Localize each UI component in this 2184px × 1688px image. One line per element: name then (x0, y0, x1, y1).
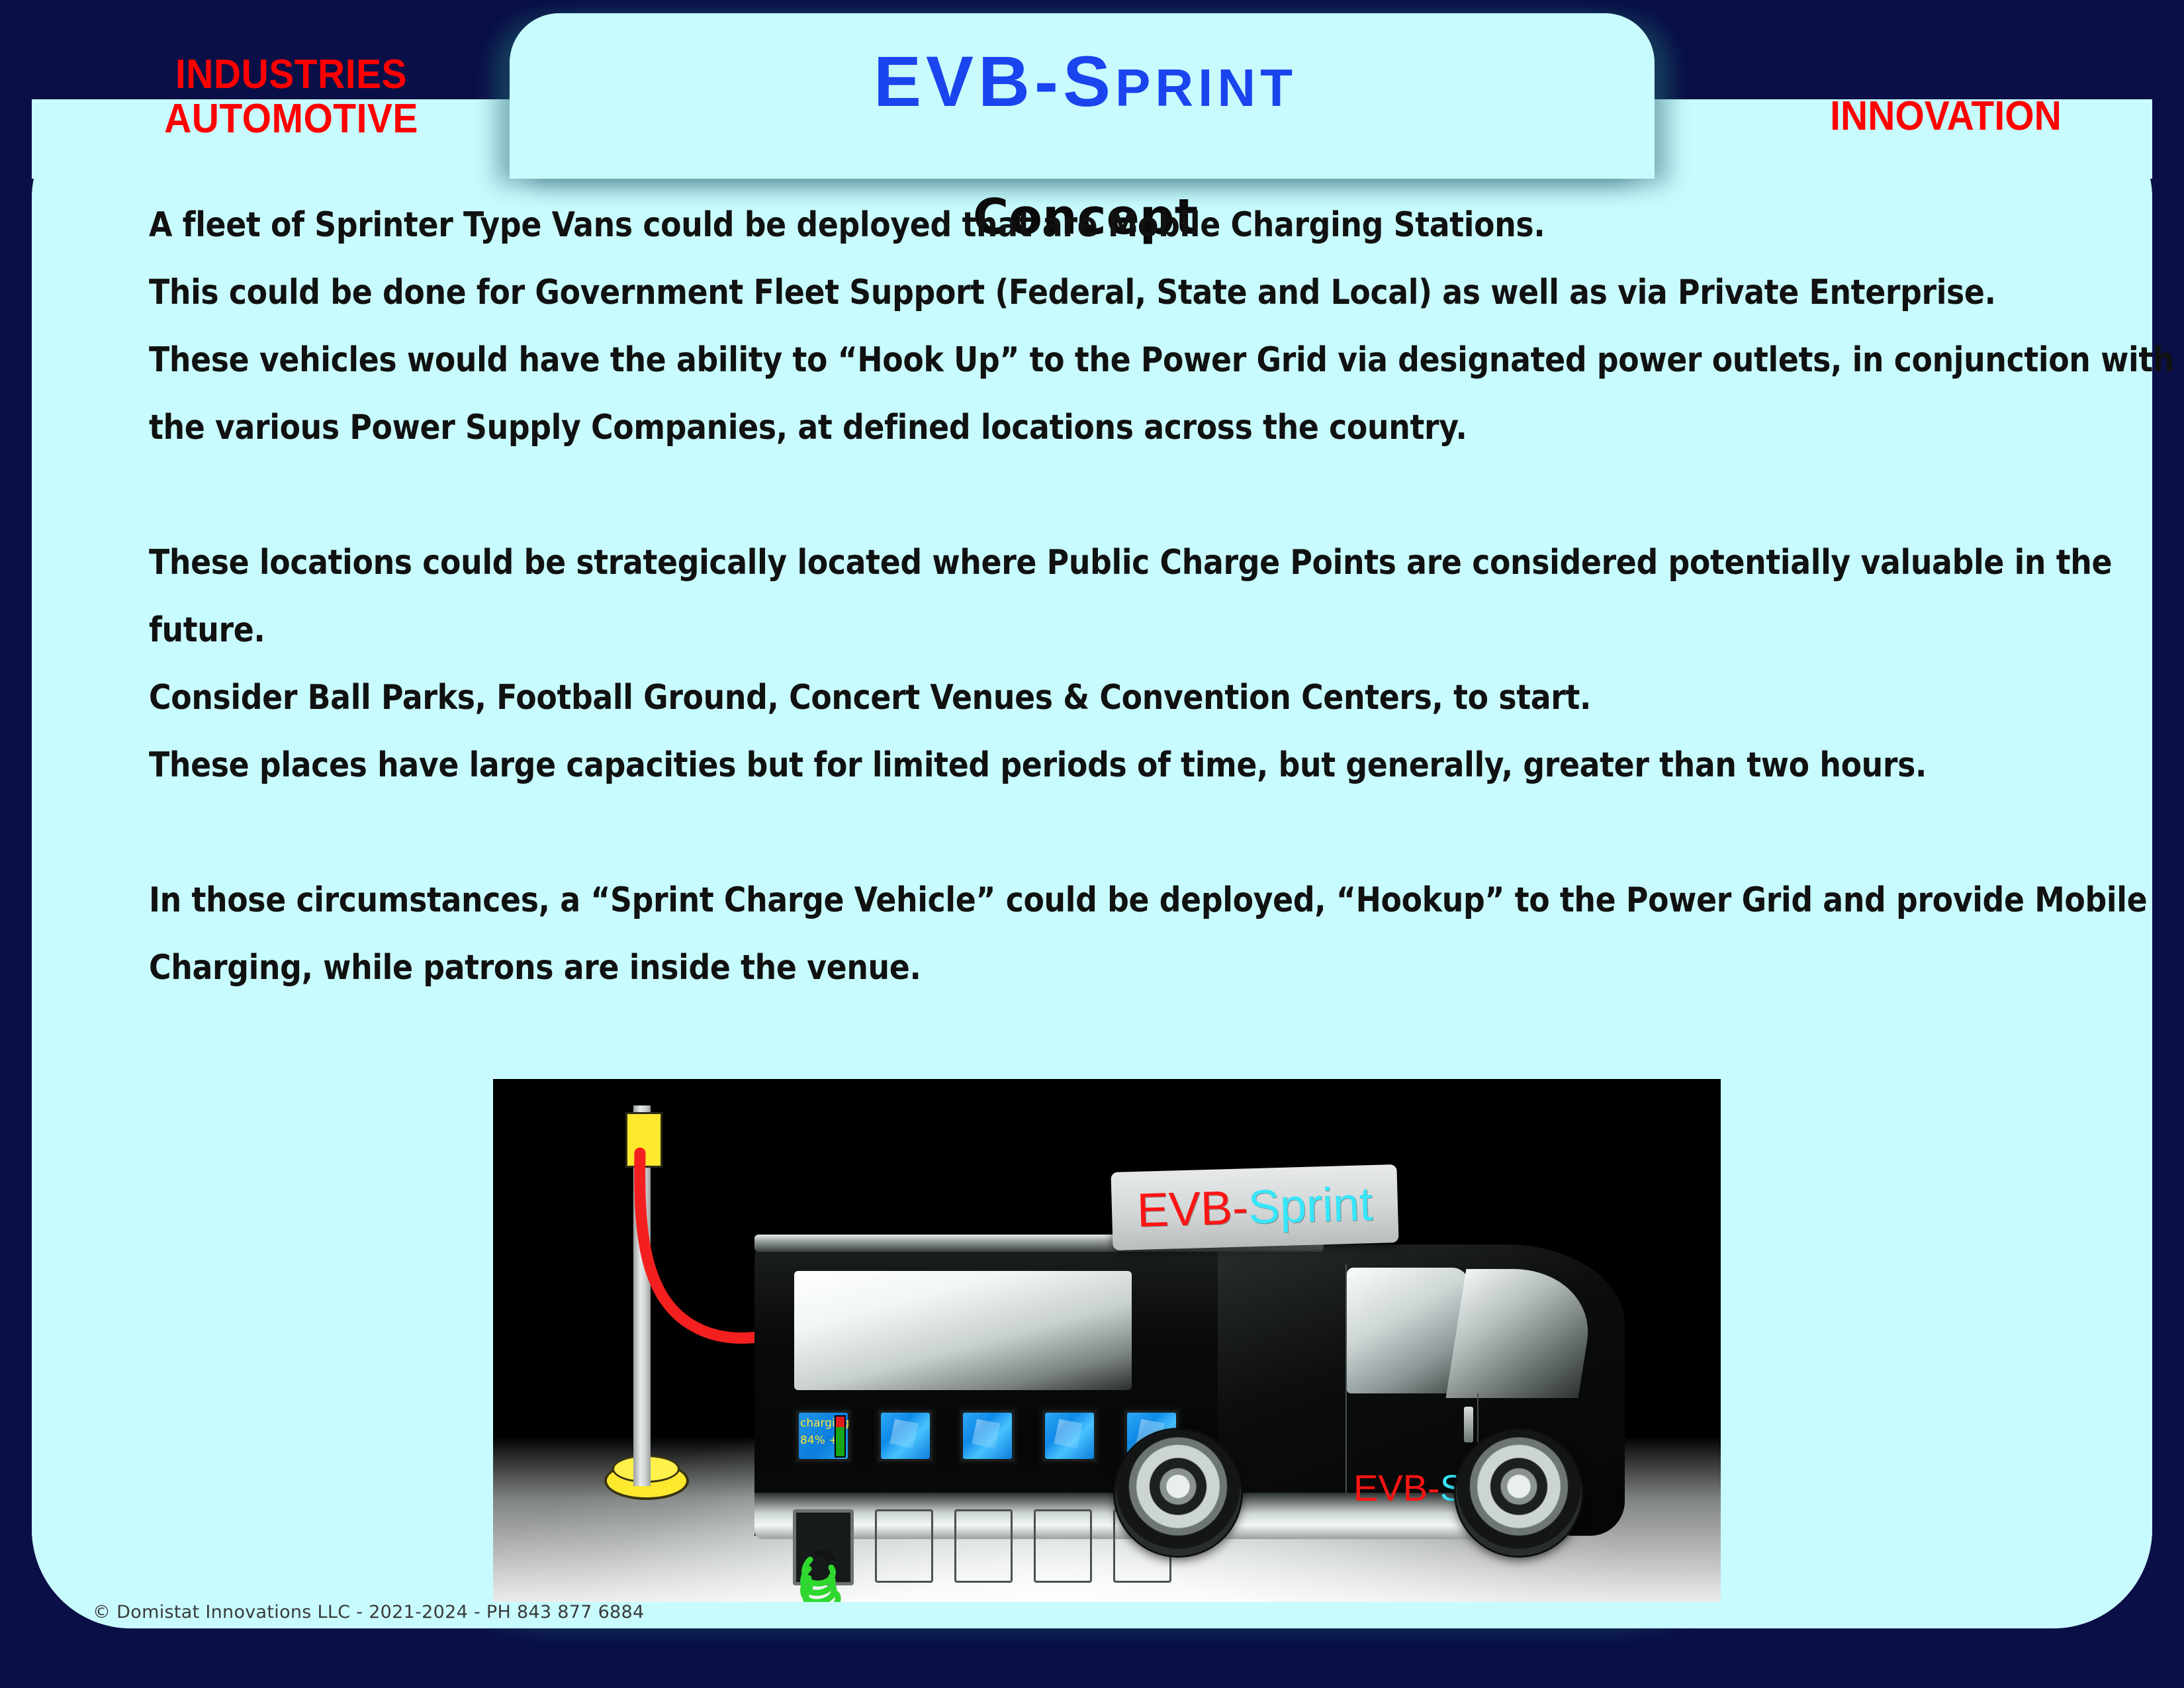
roof-sign: EVB-Sprint (1111, 1164, 1398, 1250)
coiled-charge-lead-icon (796, 1542, 875, 1602)
van-door-seam (1345, 1264, 1347, 1529)
body-line-5: These locations could be strategically l… (149, 543, 1855, 583)
body-line-6: future. (149, 610, 1855, 650)
body-line-2: This could be done for Government Fleet … (149, 273, 1855, 312)
copyright-footer: © Domistat Innovations LLC - 2021-2024 -… (93, 1602, 645, 1622)
charge-bay-hatch-4[interactable] (1034, 1509, 1092, 1583)
battery-level-icon (835, 1415, 846, 1458)
body-line-1: A fleet of Sprinter Type Vans could be d… (149, 205, 1855, 245)
van-rear-wheel (1115, 1430, 1241, 1556)
slide-root: INDUSTRIES AUTOMOTIVE EVB-SPRINT INNOVAT… (0, 0, 2184, 1688)
charge-screen-4-glow (1045, 1413, 1094, 1459)
van-front-wheel (1456, 1430, 1582, 1556)
van-graphic: charging 84% + (754, 1208, 1625, 1579)
van-side-panel (794, 1271, 1132, 1390)
charge-screen-2-glow (881, 1413, 930, 1459)
body-line-8: These places have large capacities but f… (149, 745, 1855, 785)
body-line-3: These vehicles would have the ability to… (149, 340, 1855, 380)
body-line-9: In those circumstances, a “Sprint Charge… (149, 880, 1855, 920)
charge-screen-3[interactable] (957, 1407, 1018, 1465)
roof-sign-evb: EVB- (1136, 1180, 1249, 1238)
screen-facet (1054, 1419, 1083, 1449)
body-line-4: the various Power Supply Companies, at d… (149, 408, 1855, 447)
header-industries-label: INDUSTRIES AUTOMOTIVE (109, 53, 474, 142)
van-door-handle (1464, 1407, 1473, 1442)
page-title-main: EVB-S (874, 41, 1115, 121)
charge-screen-4[interactable] (1039, 1407, 1100, 1465)
header-industries-line1: INDUSTRIES (109, 53, 474, 97)
body-line-10: Charging, while patrons are inside the v… (149, 948, 1855, 988)
header-industries-line2: AUTOMOTIVE (109, 97, 474, 142)
body-decal-evb: EVB- (1353, 1467, 1440, 1509)
charge-screen-3-glow (963, 1413, 1012, 1459)
charge-bay-hatch-2[interactable] (875, 1509, 933, 1583)
screen-facet (972, 1419, 1001, 1449)
charge-screen-2[interactable] (875, 1407, 936, 1465)
screen-facet (889, 1419, 918, 1449)
body-line-7: Consider Ball Parks, Football Ground, Co… (149, 678, 1855, 718)
charge-bay-hatch-3[interactable] (954, 1509, 1013, 1583)
van-illustration: charging 84% + (493, 1079, 1721, 1602)
page-title-smallcaps: PRINT (1115, 58, 1297, 117)
page-title: EVB-SPRINT (715, 40, 1456, 122)
header-innovation-label: INNOVATION (1714, 93, 2177, 140)
charge-screen-active[interactable]: charging 84% + (793, 1407, 854, 1465)
roof-sign-sprint: Sprint (1248, 1177, 1373, 1235)
